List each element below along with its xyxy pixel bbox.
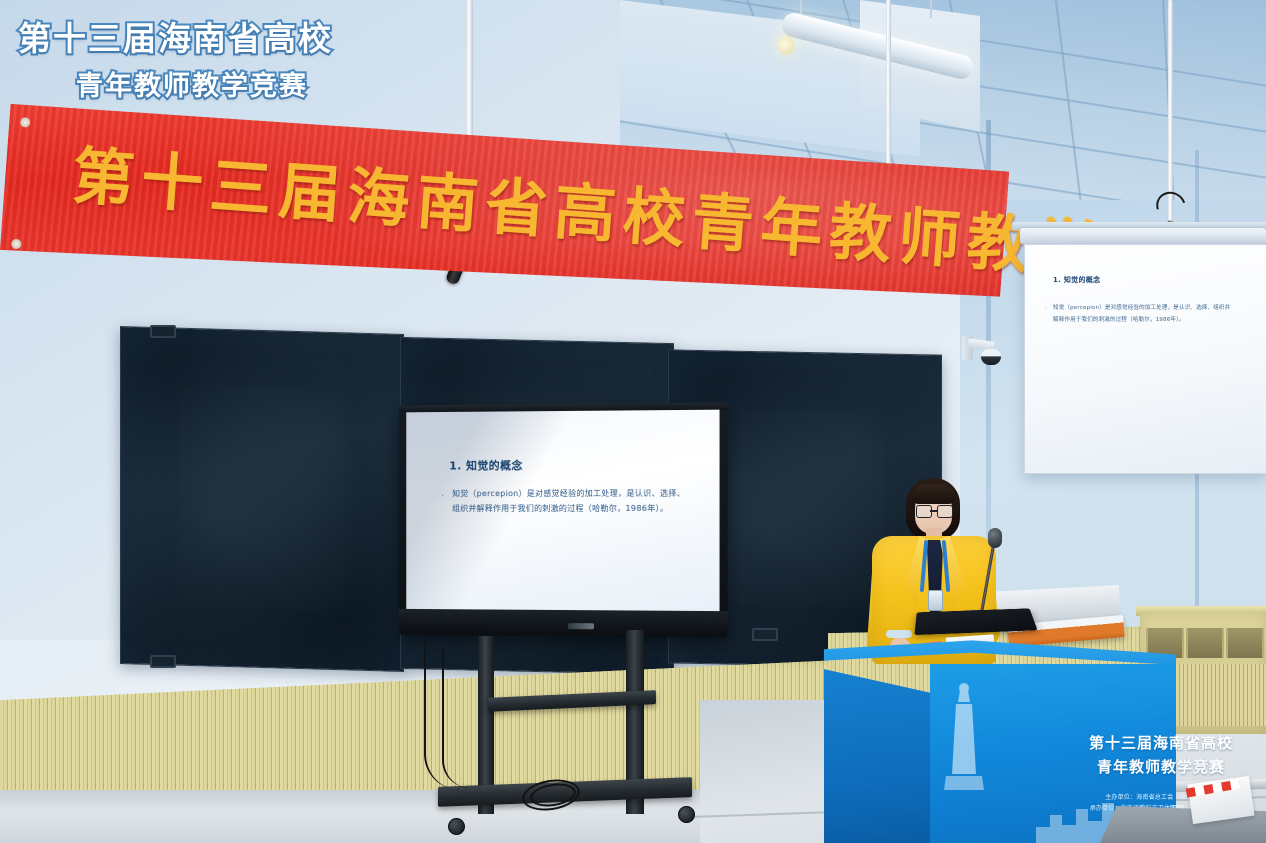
display-screen[interactable]: 1. 知觉的概念 · 知觉（percepion）是对感觉经验的加工处理，是认识、… (406, 410, 719, 611)
bullet-marker: · (1045, 304, 1047, 316)
presenter-badge (928, 590, 943, 611)
signal-cable (442, 648, 470, 788)
projected-bullet-text: 知觉（percepion）是对感觉经验的加工处理，是认识、选择、组织并解释作用于… (1053, 303, 1235, 326)
shelf-cubby (1186, 628, 1224, 658)
slide-title: 1. 知觉的概念 (449, 457, 523, 473)
shelf-cubby (1226, 628, 1264, 658)
classroom-photo: 第十三届海南省高校青年教师教学竞赛 第十三届海南省高校 青年教师教学竞赛 1. … (0, 0, 1266, 843)
light-end-cap (778, 36, 794, 55)
overlay-title-line1: 第十三届海南省高校 (18, 12, 333, 60)
interactive-display[interactable]: 1. 知觉的概念 · 知觉（percepion）是对感觉经验的加工处理，是认识、… (398, 402, 727, 637)
lighthouse-graphic (936, 682, 992, 790)
podium-title-line1: 第十三届海南省高校 (1048, 732, 1266, 753)
podium-side-panel (824, 636, 936, 843)
blackboard-panel-left (120, 326, 404, 672)
projector-screen-case (1020, 228, 1266, 244)
cart-caster (678, 806, 695, 823)
display-bottom-bezel (398, 609, 727, 638)
podium-title-line2: 青年教师教学竞赛 (1048, 756, 1266, 777)
display-brand-logo (568, 623, 594, 629)
cart-caster (448, 818, 465, 835)
presenter-glasses (916, 505, 951, 516)
projected-slide-title: 1. 知觉的概念 (1053, 275, 1100, 285)
slide-bullet-text: 知觉（percepion）是对感觉经验的加工处理，是认识、选择、组织并解释作用于… (452, 487, 691, 517)
overlay-title-line2: 青年教师教学竞赛 (76, 64, 333, 103)
light-wire-right (930, 0, 932, 18)
board-clip (150, 655, 176, 668)
podium-mic-head (988, 528, 1002, 548)
projected-slide-bullet: · 知觉（percepion）是对感觉经验的加工处理，是认识、选择、组织并解释作… (1045, 303, 1235, 326)
dome-camera-icon (981, 349, 1001, 365)
projector-screen: 1. 知觉的概念 · 知觉（percepion）是对感觉经验的加工处理，是认识、… (1024, 244, 1266, 474)
board-clip (150, 325, 176, 338)
overlay-title: 第十三届海南省高校 青年教师教学竞赛 (18, 12, 333, 103)
bullet-marker: · (441, 489, 444, 504)
presenter-fringe (912, 484, 955, 504)
board-clip (752, 628, 778, 641)
slide-bullet: · 知觉（percepion）是对感觉经验的加工处理，是认识、选择、组织并解释作… (441, 487, 691, 517)
